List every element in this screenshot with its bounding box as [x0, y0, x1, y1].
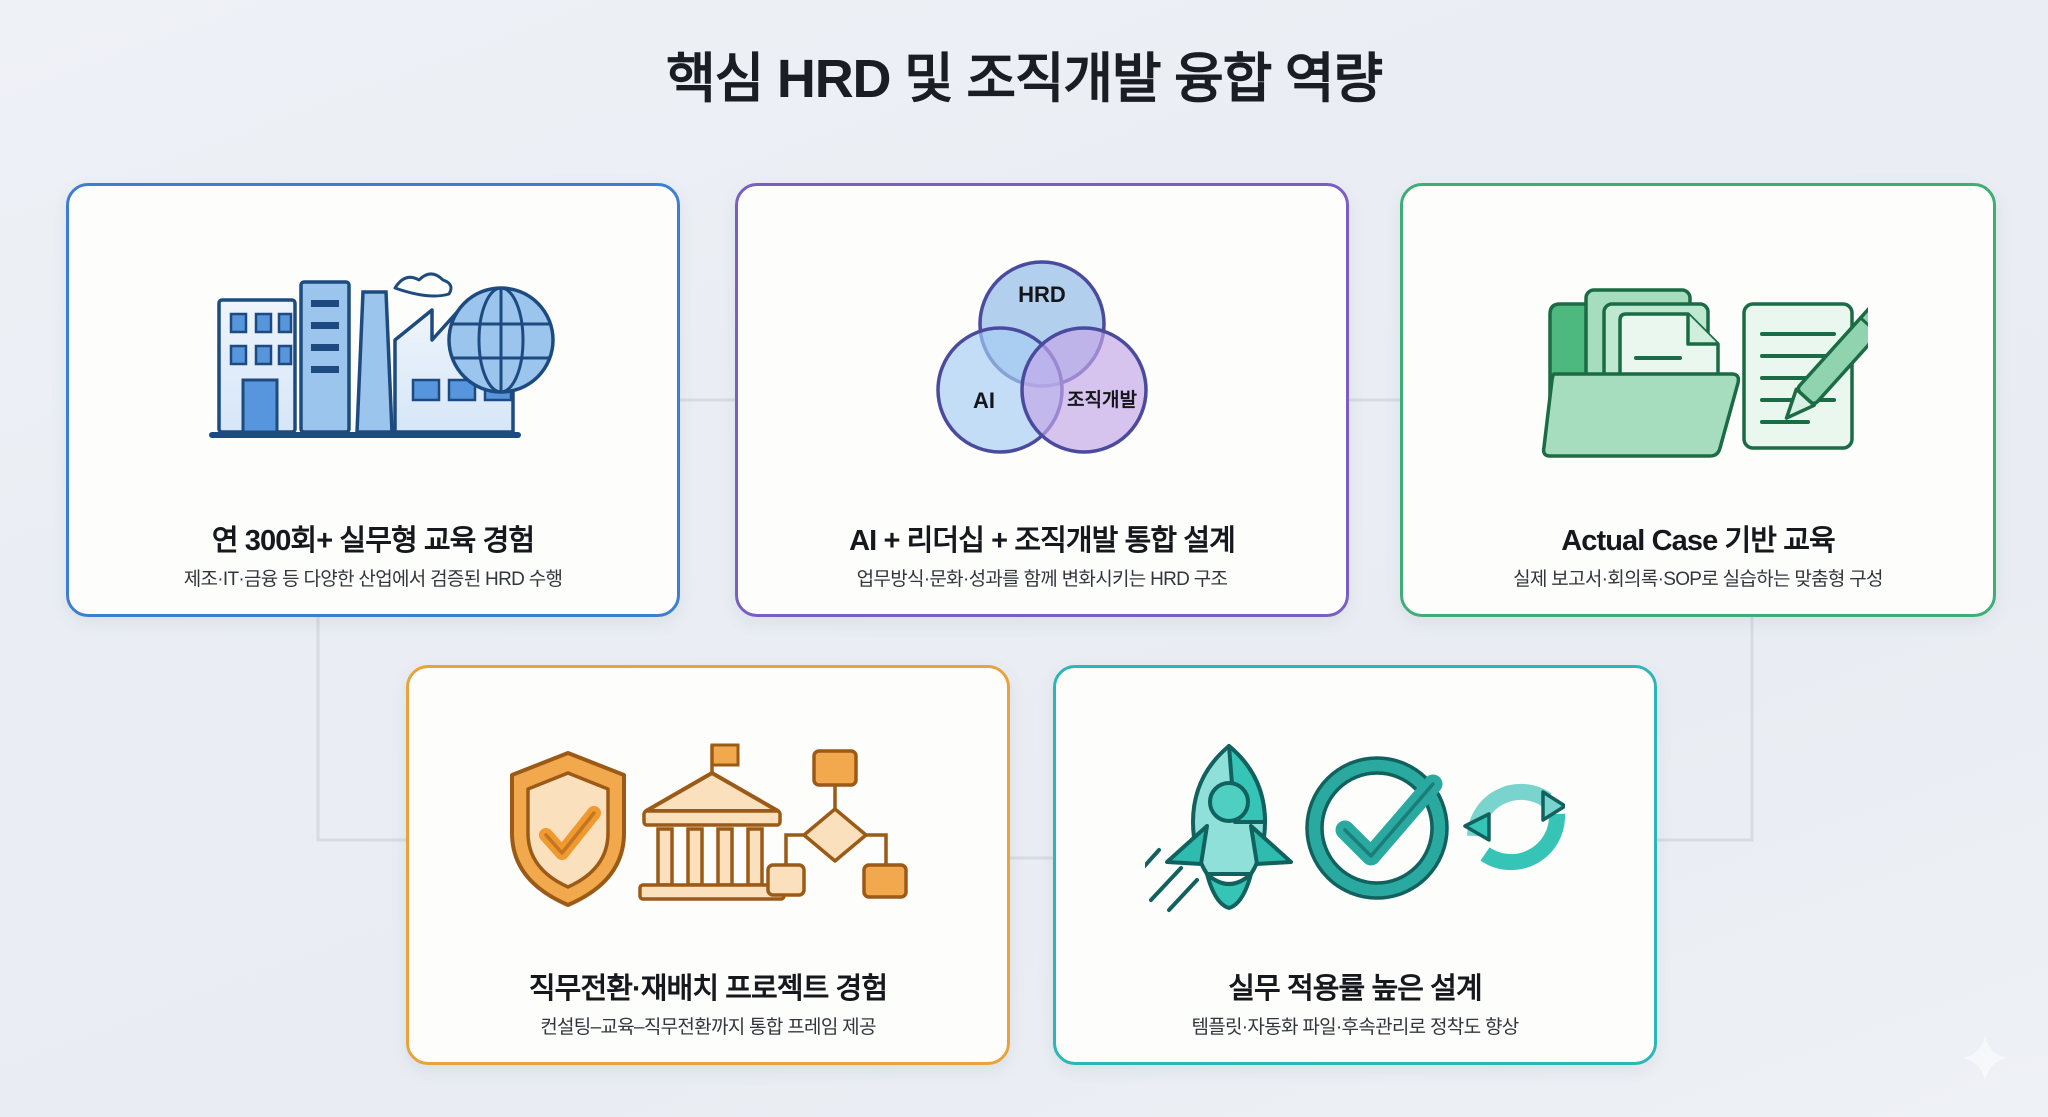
- infographic-canvas: 핵심 HRD 및 조직개발 융합 역량: [0, 0, 2048, 1117]
- card-subtitle: 제조·IT·금융 등 다양한 산업에서 검증된 HRD 수행: [83, 568, 663, 592]
- card-text-block: AI + 리더십 + 조직개발 통합 설계 업무방식·문화·성과를 함께 변화시…: [738, 524, 1346, 614]
- card-title: 실무 적용률 높은 설계: [1070, 972, 1640, 1007]
- card-text-block: 실무 적용률 높은 설계 템플릿·자동화 파일·후속관리로 정착도 향상: [1056, 972, 1654, 1062]
- venn-label-right: 조직개발: [1067, 389, 1137, 411]
- card-icon-wrapper: HRD AI 조직개발: [738, 186, 1346, 524]
- card-text-block: 직무전환·재배치 프로젝트 경험 컨설팅–교육–직무전환까지 통합 프레임 제공: [409, 972, 1007, 1062]
- card-title: 직무전환·재배치 프로젝트 경험: [423, 972, 993, 1007]
- card-subtitle: 업무방식·문화·성과를 함께 변화시키는 HRD 구조: [752, 568, 1332, 592]
- card-icon-wrapper: [1056, 668, 1654, 972]
- shield-institution-flowchart-icon: [498, 737, 918, 917]
- rocket-check-refresh-icon: [1145, 740, 1565, 915]
- folder-documents-pencil-icon: [1528, 262, 1868, 462]
- card-title: AI + 리더십 + 조직개발 통합 설계: [752, 524, 1332, 559]
- card-job-transition[interactable]: 직무전환·재배치 프로젝트 경험 컨설팅–교육–직무전환까지 통합 프레임 제공: [406, 665, 1010, 1065]
- card-icon-wrapper: [69, 186, 677, 524]
- card-industry-experience[interactable]: 연 300회+ 실무형 교육 경험 제조·IT·금융 등 다양한 산업에서 검증…: [66, 183, 680, 617]
- card-subtitle: 컨설팅–교육–직무전환까지 통합 프레임 제공: [423, 1016, 993, 1040]
- card-subtitle: 실제 보고서·회의록·SOP로 실습하는 맞춤형 구성: [1417, 568, 1979, 592]
- card-title: Actual Case 기반 교육: [1417, 524, 1979, 559]
- card-text-block: 연 300회+ 실무형 교육 경험 제조·IT·금융 등 다양한 산업에서 검증…: [69, 524, 677, 614]
- page-title: 핵심 HRD 및 조직개발 융합 역량: [0, 34, 2048, 113]
- venn-label-top: HRD: [1018, 282, 1066, 307]
- venn-label-left: AI: [973, 388, 995, 413]
- card-integrated-design[interactable]: HRD AI 조직개발 AI + 리더십 + 조직개발 통합 설계 업무방식·문…: [735, 183, 1349, 617]
- venn-diagram-icon: HRD AI 조직개발: [892, 256, 1192, 468]
- card-actual-case[interactable]: Actual Case 기반 교육 실제 보고서·회의록·SOP로 실습하는 맞…: [1400, 183, 1996, 617]
- card-text-block: Actual Case 기반 교육 실제 보고서·회의록·SOP로 실습하는 맞…: [1403, 524, 1993, 614]
- card-icon-wrapper: [409, 668, 1007, 972]
- sparkle-icon: [1962, 1035, 2008, 1081]
- card-subtitle: 템플릿·자동화 파일·후속관리로 정착도 향상: [1070, 1016, 1640, 1040]
- factory-industry-globe-icon: [183, 262, 563, 462]
- card-practical-application[interactable]: 실무 적용률 높은 설계 템플릿·자동화 파일·후속관리로 정착도 향상: [1053, 665, 1657, 1065]
- card-title: 연 300회+ 실무형 교육 경험: [83, 524, 663, 559]
- card-icon-wrapper: [1403, 186, 1993, 524]
